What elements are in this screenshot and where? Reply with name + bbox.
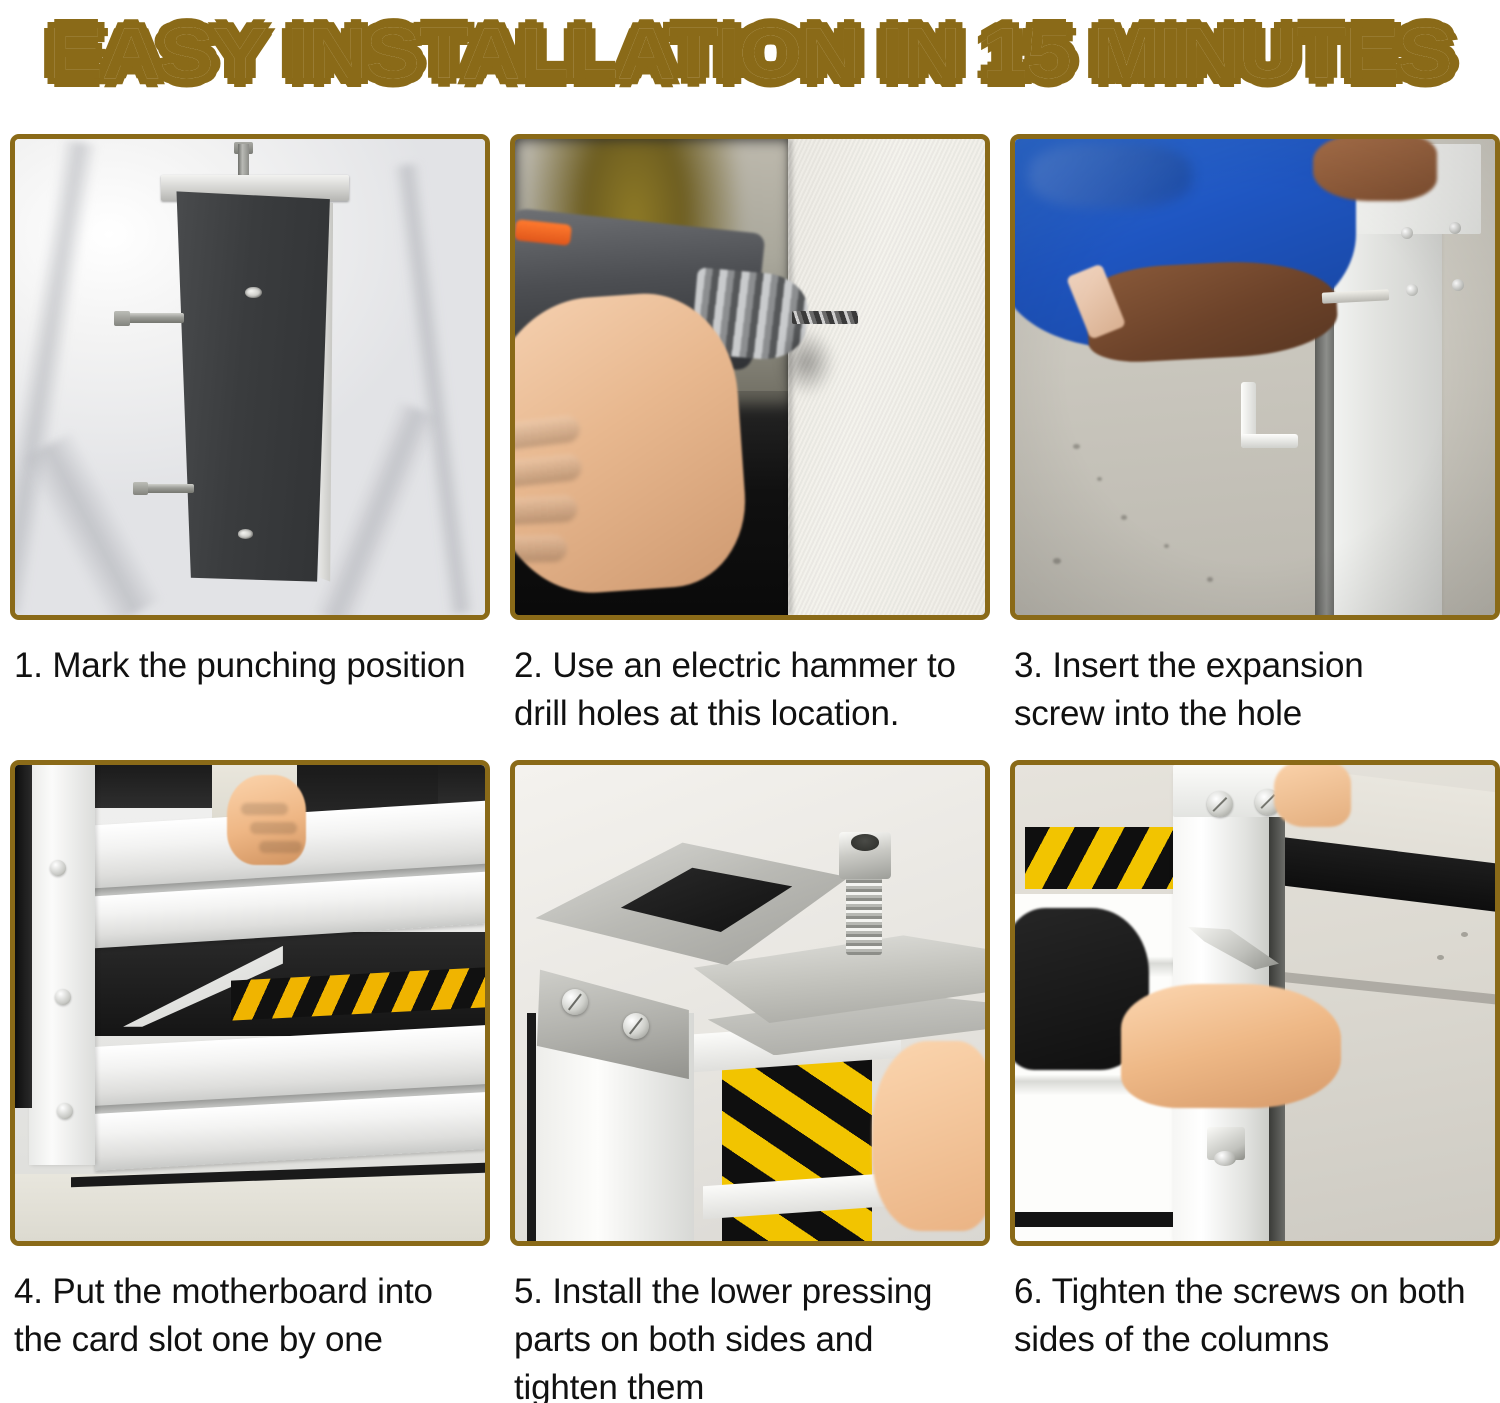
step-card-3: 3. Insert the expansion screw into the h… [1010,134,1500,738]
hand [515,288,751,600]
step-5-caption: 5. Install the lower pressing parts on b… [510,1246,990,1403]
step-1-photo-frame [10,134,490,620]
finger [259,841,301,852]
column-screw [1207,791,1233,817]
step-6-photo-frame [1010,760,1500,1246]
steps-grid: 1. Mark the punching position [10,134,1490,1403]
column-screw [55,989,71,1005]
caption-line: screw into the hole [1014,690,1496,738]
finger [515,414,581,451]
step-2-photo-frame [510,134,990,620]
caption-line: 5. Install the lower pressing [514,1268,986,1316]
title-banner: EASY INSTALLATION IN 15 MINUTES [0,0,1500,108]
caption-line: drill holes at this location. [514,690,986,738]
finger [515,453,584,489]
lower-screw-head [1214,1151,1236,1166]
step-card-2: 2. Use an electric hammer to drill holes… [510,134,990,738]
step-card-4: 4. Put the motherboard into the card slo… [10,738,490,1403]
floor-speck [1461,932,1468,937]
bracket-screw [562,989,588,1015]
step-1-caption: 1. Mark the punching position [10,620,490,690]
masonry-drill-bit [792,311,858,323]
column-base-post [170,191,330,581]
step-3-caption: 3. Insert the expansion screw into the h… [1010,620,1500,738]
page-title: EASY INSTALLATION IN 15 MINUTES [49,18,1452,90]
punch-hole-lower [238,529,253,539]
caption-line: 2. Use an electric hammer to [514,642,986,690]
step-4-caption: 4. Put the motherboard into the card slo… [10,1246,490,1364]
punch-hole-upper [245,287,262,298]
step-3-photo-insert-expansion-screw [1015,139,1495,615]
sheet-fold-icon [21,431,163,615]
caption-line: parts on both sides and [514,1316,986,1364]
expansion-bolt-upper-head [114,311,130,325]
step-1-photo-mark-punching-position [15,139,485,615]
caption-line: 1. Mark the punching position [14,642,486,690]
caption-line: 3. Insert the expansion [1014,642,1496,690]
caption-line: tighten them [514,1364,986,1403]
bracket-screw [623,1013,649,1039]
finger [515,494,578,525]
board-bottom-edge [1015,1212,1178,1226]
threaded-rod [238,144,248,177]
drill-shadow [778,329,834,396]
photo-vignette [1015,139,1495,615]
step-2-caption: 2. Use an electric hammer to drill holes… [510,620,990,738]
step-card-6: 6. Tighten the screws on both sides of t… [1010,738,1500,1403]
step-5-photo-frame [510,760,990,1246]
step-card-5: 5. Install the lower pressing parts on b… [510,738,990,1403]
expansion-bolt-lower-head [133,482,147,495]
caption-line: the card slot one by one [14,1316,486,1364]
column-dark-channel [15,765,32,1108]
upper-hand [1274,765,1351,827]
step-6-caption: 6. Tighten the screws on both sides of t… [1010,1246,1500,1364]
caption-line: 4. Put the motherboard into [14,1268,486,1316]
column-dark-edge [527,1013,536,1241]
sheet-fold-icon [392,163,477,615]
infographic-page: EASY INSTALLATION IN 15 MINUTES [0,0,1500,1403]
step-card-1: 1. Mark the punching position [10,134,490,738]
hazard-stripe-tape [1025,827,1179,889]
step-4-photo-put-motherboard-in-slot [15,765,485,1241]
finger [241,803,288,814]
caption-line: 6. Tighten the screws on both [1014,1268,1496,1316]
hand [1121,984,1342,1108]
hand [872,1041,985,1231]
threaded-bolt-shaft [846,874,881,955]
sheet-fold-icon [312,400,440,615]
step-3-photo-frame [1010,134,1500,620]
caption-line: sides of the columns [1014,1316,1496,1364]
finger [515,535,568,563]
step-5-photo-install-lower-pressing-parts [515,765,985,1241]
step-2-photo-drill-holes [515,139,985,615]
hex-bolt-socket [851,834,879,850]
finger [250,822,297,833]
step-6-photo-tighten-screws [1015,765,1495,1241]
step-4-photo-frame [10,760,490,1246]
